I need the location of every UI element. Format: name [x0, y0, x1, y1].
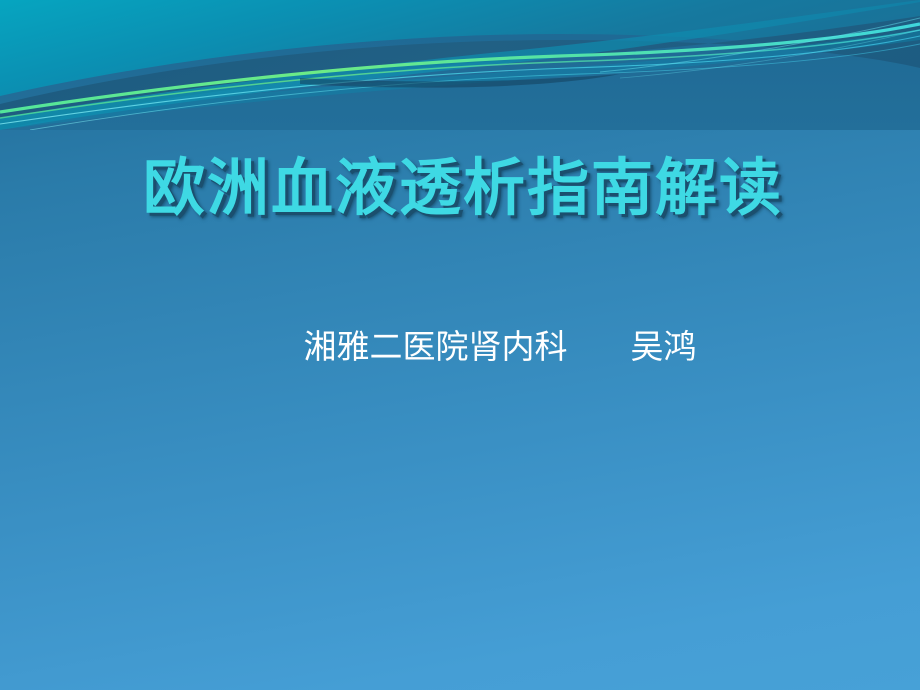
- title-container: 欧洲血液透析指南解读: [0, 152, 920, 224]
- page-title: 欧洲血液透析指南解读: [137, 152, 783, 224]
- presenter-affiliation: 湘雅二医院肾内科 吴鸿: [304, 326, 697, 369]
- subtitle-container: 湘雅二医院肾内科 吴鸿: [0, 326, 920, 369]
- flow-wave-header-graphic: [0, 0, 920, 130]
- presentation-slide: 欧洲血液透析指南解读 湘雅二医院肾内科 吴鸿: [0, 0, 920, 690]
